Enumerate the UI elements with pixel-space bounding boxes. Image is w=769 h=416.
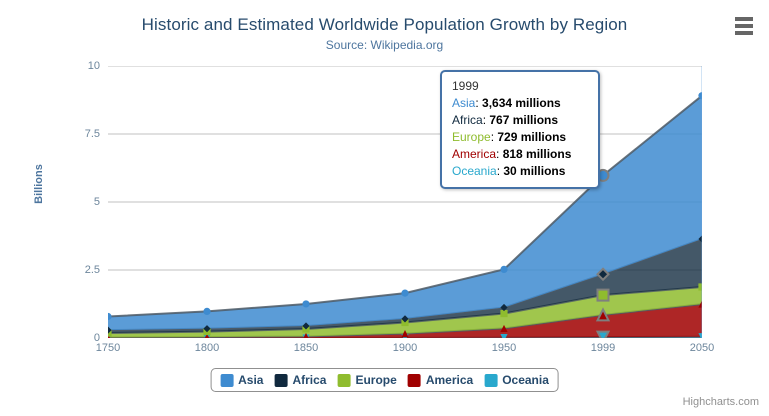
tooltip: 1999 Asia: 3,634 millionsAfrica: 767 mil… — [440, 70, 600, 189]
data-point-europe[interactable] — [598, 290, 609, 301]
legend-label: Oceania — [502, 373, 549, 387]
x-axis-labels: 1750180018501900195019992050 — [108, 342, 702, 362]
legend-item-africa[interactable]: Africa — [274, 373, 326, 387]
hamburger-menu-icon[interactable] — [731, 14, 757, 38]
tooltip-separator: : — [475, 96, 482, 110]
y-axis-tick-label: 10 — [88, 60, 100, 72]
legend-swatch-asia — [220, 374, 233, 387]
legend-swatch-europe — [337, 374, 350, 387]
legend-item-america[interactable]: America — [408, 373, 473, 387]
legend-swatch-america — [408, 374, 421, 387]
chart-legend: AsiaAfricaEuropeAmericaOceania — [210, 368, 559, 392]
data-point-asia[interactable] — [500, 266, 507, 273]
tooltip-row-europe: Europe: 729 millions — [452, 129, 590, 146]
x-axis-tick-label: 1900 — [393, 342, 417, 354]
legend-swatch-africa — [274, 374, 287, 387]
tooltip-header: 1999 — [452, 79, 590, 93]
legend-label: Africa — [292, 373, 326, 387]
tooltip-row-oceania: Oceania: 30 millions — [452, 163, 590, 180]
data-point-asia[interactable] — [401, 290, 408, 297]
tooltip-series-value: 818 millions — [503, 147, 572, 161]
x-axis-tick-label: 1800 — [195, 342, 219, 354]
x-axis-tick-label: 1750 — [96, 342, 120, 354]
legend-item-europe[interactable]: Europe — [337, 373, 396, 387]
tooltip-rows: Asia: 3,634 millionsAfrica: 767 millions… — [452, 95, 590, 180]
tooltip-series-name: Europe — [452, 130, 491, 144]
data-point-asia[interactable] — [302, 300, 309, 307]
tooltip-series-value: 30 millions — [503, 164, 565, 178]
tooltip-series-name: Africa — [452, 113, 483, 127]
data-point-oceania[interactable] — [598, 332, 609, 338]
tooltip-row-africa: Africa: 767 millions — [452, 112, 590, 129]
x-axis-tick-label: 2050 — [690, 342, 714, 354]
legend-swatch-oceania — [484, 374, 497, 387]
chart-title: Historic and Estimated Worldwide Populat… — [0, 15, 769, 35]
hamburger-bar — [735, 17, 753, 21]
tooltip-row-asia: Asia: 3,634 millions — [452, 95, 590, 112]
y-axis-tick-label: 2.5 — [85, 264, 100, 276]
tooltip-series-name: America — [452, 147, 496, 161]
tooltip-series-value: 729 millions — [497, 130, 566, 144]
x-axis-tick-label: 1999 — [591, 342, 615, 354]
legend-label: America — [426, 373, 473, 387]
data-point-asia[interactable] — [203, 308, 210, 315]
x-axis-tick-label: 1950 — [492, 342, 516, 354]
chart-container: Historic and Estimated Worldwide Populat… — [0, 0, 769, 416]
tooltip-series-value: 3,634 millions — [482, 96, 561, 110]
tooltip-separator: : — [496, 147, 503, 161]
legend-item-oceania[interactable]: Oceania — [484, 373, 549, 387]
tooltip-series-name: Oceania — [452, 164, 497, 178]
y-axis-labels: 02.557.510 — [50, 66, 100, 338]
hamburger-bar — [735, 24, 753, 28]
x-axis-tick-label: 1850 — [294, 342, 318, 354]
y-axis-title: Billions — [33, 139, 45, 229]
y-axis-tick-label: 5 — [94, 196, 100, 208]
data-point-europe[interactable] — [698, 283, 702, 290]
hamburger-bar — [735, 31, 753, 35]
legend-item-asia[interactable]: Asia — [220, 373, 263, 387]
y-axis-tick-label: 7.5 — [85, 128, 100, 140]
credits-link[interactable]: Highcharts.com — [683, 396, 759, 408]
tooltip-row-america: America: 818 millions — [452, 146, 590, 163]
tooltip-series-value: 767 millions — [489, 113, 558, 127]
area-chart-svg — [108, 66, 702, 338]
plot-area — [108, 66, 702, 338]
legend-label: Europe — [355, 373, 396, 387]
tooltip-series-name: Asia — [452, 96, 475, 110]
legend-label: Asia — [238, 373, 263, 387]
chart-subtitle: Source: Wikipedia.org — [0, 38, 769, 52]
